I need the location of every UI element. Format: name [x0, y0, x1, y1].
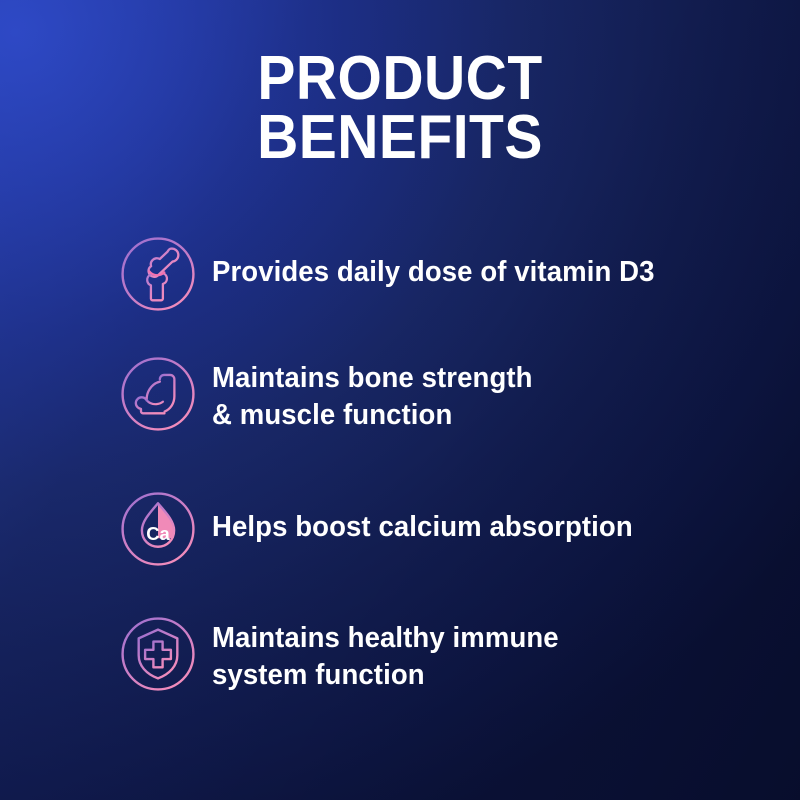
page-title-line-1: PRODUCT	[32, 50, 768, 109]
flexed-bicep-icon	[108, 344, 208, 444]
knee-joint-icon	[108, 224, 208, 324]
benefit-label: Helps boost calcium absorption	[212, 495, 633, 546]
shield-cross-icon	[108, 604, 208, 704]
benefit-label: Maintains bone strength & muscle functio…	[212, 360, 533, 433]
calcium-droplet-icon: Ca	[108, 479, 208, 579]
product-benefits-poster: PRODUCT BENEFITS	[0, 0, 800, 800]
benefit-item: Maintains bone strength & muscle functio…	[108, 360, 768, 444]
benefit-item: Ca Helps boost calcium absorption	[108, 495, 768, 579]
benefit-label: Maintains healthy immune system function	[212, 620, 559, 693]
benefit-item: Maintains healthy immune system function	[108, 620, 768, 704]
benefit-item: Provides daily dose of vitamin D3	[108, 240, 768, 324]
benefit-label: Provides daily dose of vitamin D3	[212, 240, 655, 291]
page-title-line-2: BENEFITS	[32, 109, 768, 168]
calcium-symbol-label: Ca	[146, 523, 170, 544]
page-title: PRODUCT BENEFITS	[32, 50, 768, 168]
